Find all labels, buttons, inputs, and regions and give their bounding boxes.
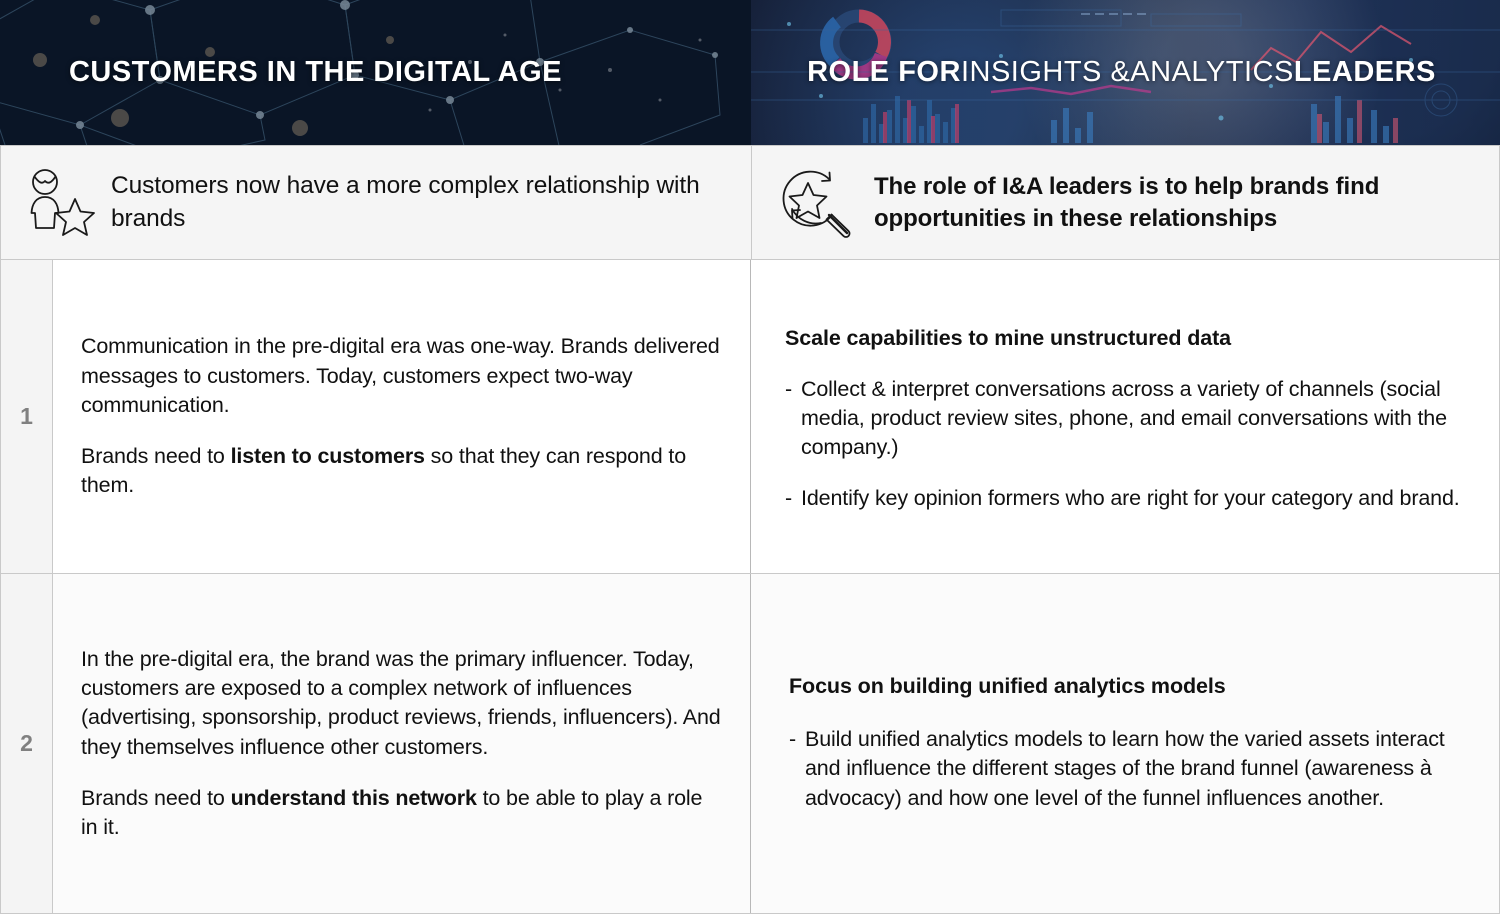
banner-left: CUSTOMERS IN THE DIGITAL AGE xyxy=(0,0,751,145)
banner-right-title-bold-2: LEADERS xyxy=(1294,58,1436,87)
banner-row: CUSTOMERS IN THE DIGITAL AGE xyxy=(0,0,1500,145)
subhead-row: Customers now have a more complex relati… xyxy=(0,145,1500,260)
right-column: Scale capabilities to mine unstructured … xyxy=(751,260,1500,914)
slide-root: CUSTOMERS IN THE DIGITAL AGE xyxy=(0,0,1500,914)
left-cell-row-1: Communication in the pre-digital era was… xyxy=(53,260,751,573)
magnifier-star-refresh-icon xyxy=(772,163,858,243)
bullet-dash: - xyxy=(785,484,801,513)
left-column: 1 Communication in the pre-digital era w… xyxy=(0,260,751,914)
banner-right-title-regular: INSIGHTS &ANALYTICS xyxy=(961,58,1294,87)
row-number: 1 xyxy=(1,260,53,573)
table-row: 1 Communication in the pre-digital era w… xyxy=(0,260,751,574)
list-item: - Collect & interpret conversations acro… xyxy=(785,375,1465,463)
bullet-text: Collect & interpret conversations across… xyxy=(801,375,1465,463)
paragraph: Communication in the pre-digital era was… xyxy=(81,332,722,420)
right-cell-row-2: Focus on building unified analytics mode… xyxy=(751,574,1500,914)
list-item: - Build unified analytics models to lear… xyxy=(789,725,1465,813)
section-heading: Focus on building unified analytics mode… xyxy=(789,674,1465,699)
right-cell-row-1: Scale capabilities to mine unstructured … xyxy=(751,260,1500,574)
list-item: - Identify key opinion formers who are r… xyxy=(785,484,1465,513)
table-row: 2 In the pre-digital era, the brand was … xyxy=(0,574,751,914)
bullet-dash: - xyxy=(785,375,801,463)
paragraph: In the pre-digital era, the brand was th… xyxy=(81,645,722,762)
paragraph-emphasis: understand this network xyxy=(231,786,477,810)
left-cell-row-2: In the pre-digital era, the brand was th… xyxy=(53,574,751,913)
banner-right-title-bold-1: ROLE FOR xyxy=(807,58,961,87)
subhead-right: The role of I&A leaders is to help brand… xyxy=(751,145,1500,260)
subhead-left-text: Customers now have a more complex relati… xyxy=(111,170,751,235)
bullet-dash: - xyxy=(789,725,805,813)
banner-right: ROLE FOR INSIGHTS &ANALYTICS LEADERS xyxy=(751,0,1500,145)
paragraph-part: Brands need to xyxy=(81,444,231,468)
paragraph: Brands need to understand this network t… xyxy=(81,784,722,842)
section-heading: Scale capabilities to mine unstructured … xyxy=(785,326,1465,351)
paragraph-emphasis: listen to customers xyxy=(231,444,425,468)
banner-left-title-text: CUSTOMERS IN THE DIGITAL AGE xyxy=(69,58,562,87)
banner-right-title: ROLE FOR INSIGHTS &ANALYTICS LEADERS xyxy=(751,0,1500,145)
person-with-star-icon xyxy=(23,166,97,240)
subhead-left: Customers now have a more complex relati… xyxy=(0,145,751,260)
bullet-text: Build unified analytics models to learn … xyxy=(805,725,1465,813)
paragraph: Brands need to listen to customers so th… xyxy=(81,442,722,500)
bullet-text: Identify key opinion formers who are rig… xyxy=(801,484,1465,513)
content-table: 1 Communication in the pre-digital era w… xyxy=(0,260,1500,914)
banner-left-title: CUSTOMERS IN THE DIGITAL AGE xyxy=(0,0,751,145)
row-number: 2 xyxy=(1,574,53,913)
subhead-right-text: The role of I&A leaders is to help brand… xyxy=(874,171,1499,234)
paragraph-part: Brands need to xyxy=(81,786,231,810)
